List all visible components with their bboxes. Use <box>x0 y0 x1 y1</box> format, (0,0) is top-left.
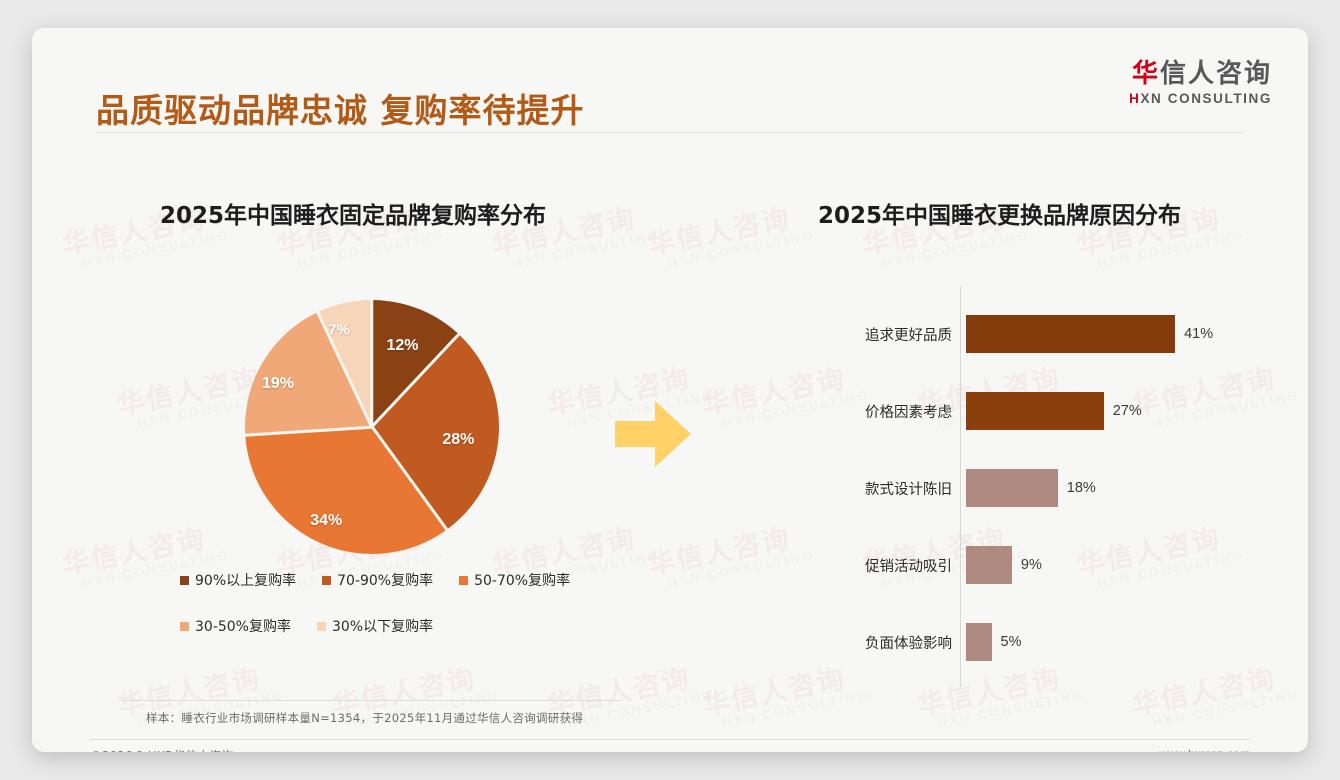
bar-value-label: 18% <box>1067 480 1096 496</box>
legend-label: 30%以下复购率 <box>332 616 433 636</box>
bar-category-label: 价格因素考虑 <box>832 401 966 422</box>
legend-label: 50-70%复购率 <box>474 570 570 590</box>
sample-note: 样本：睡衣行业市场调研样本量N=1354，于2025年11月通过华信人咨询调研获… <box>146 710 583 726</box>
pie-slice-label: 12% <box>386 337 418 355</box>
logo-english-text: HXN CONSULTING <box>1129 91 1272 106</box>
header-divider <box>96 132 1244 133</box>
legend-item[interactable]: 50-70%复购率 <box>459 570 570 590</box>
bar-chart-title: 2025年中国睡衣更换品牌原因分布 <box>818 196 1181 230</box>
bar-value-label: 5% <box>1001 634 1022 650</box>
legend-label: 90%以上复购率 <box>195 570 296 590</box>
bar-row: 负面体验影响5% <box>832 622 1252 662</box>
slide-header: 品质驱动品牌忠诚 复购率待提升 华信人咨询 HXN CONSULTING <box>32 28 1308 154</box>
note-divider <box>122 700 622 701</box>
bar-fill[interactable] <box>966 315 1175 353</box>
pie-chart: 12%28%34%19%7% <box>245 300 499 554</box>
pie-slice-label: 34% <box>310 512 342 530</box>
pie-chart-title: 2025年中国睡衣固定品牌复购率分布 <box>160 196 546 230</box>
legend-item[interactable]: 70-90%复购率 <box>322 570 433 590</box>
bar-category-label: 追求更好品质 <box>832 324 966 345</box>
page-title: 品质驱动品牌忠诚 复购率待提升 <box>96 84 585 132</box>
logo-accent-char: 华 <box>1132 59 1160 89</box>
legend-label: 30-50%复购率 <box>195 616 291 636</box>
bar-row: 促销活动吸引9% <box>832 545 1252 585</box>
pie-legend: 90%以上复购率70-90%复购率50-70%复购率30-50%复购率30%以下… <box>180 570 600 662</box>
bar-category-label: 促销活动吸引 <box>832 555 966 576</box>
legend-swatch <box>317 622 326 631</box>
bar-row: 款式设计陈旧18% <box>832 468 1252 508</box>
pie-slice-divider <box>371 300 374 427</box>
legend-row: 90%以上复购率70-90%复购率50-70%复购率 <box>180 570 600 590</box>
footer-website[interactable]: www.hxrcon.com <box>1159 747 1250 752</box>
bar-fill[interactable] <box>966 469 1058 507</box>
pie-slice-label: 7% <box>328 322 350 339</box>
bar-fill[interactable] <box>966 546 1012 584</box>
logo-en-rest: XN CONSULTING <box>1140 91 1272 106</box>
logo-rest-chars: 信人咨询 <box>1160 59 1272 89</box>
legend-swatch <box>180 576 189 585</box>
bar-category-label: 款式设计陈旧 <box>832 478 966 499</box>
bar-fill[interactable] <box>966 392 1104 430</box>
bar-row: 追求更好品质41% <box>832 314 1252 354</box>
bar-row: 价格因素考虑27% <box>832 391 1252 431</box>
right-arrow-icon <box>615 399 691 469</box>
legend-item[interactable]: 30%以下复购率 <box>317 616 433 636</box>
logo-en-accent: H <box>1129 91 1140 106</box>
legend-swatch <box>459 576 468 585</box>
bar-category-label: 负面体验影响 <box>832 632 966 653</box>
legend-row: 30-50%复购率30%以下复购率 <box>180 616 600 636</box>
slide-canvas: 华信人咨询HXN CONSULTING华信人咨询HXN CONSULTING华信… <box>32 28 1308 752</box>
legend-item[interactable]: 90%以上复购率 <box>180 570 296 590</box>
bar-value-label: 9% <box>1021 557 1042 573</box>
bar-value-label: 41% <box>1184 326 1213 342</box>
company-logo: 华信人咨询 HXN CONSULTING <box>1129 60 1272 106</box>
pie-slice-label: 28% <box>442 431 474 449</box>
footer-copyright: ©2026.1 HXR华信人咨询 <box>90 747 233 752</box>
pie-slice-label: 19% <box>262 375 294 393</box>
legend-label: 70-90%复购率 <box>337 570 433 590</box>
logo-chinese-text: 华信人咨询 <box>1129 60 1272 89</box>
legend-swatch <box>322 576 331 585</box>
legend-swatch <box>180 622 189 631</box>
bar-chart: 追求更好品质41%价格因素考虑27%款式设计陈旧18%促销活动吸引9%负面体验影… <box>832 286 1252 686</box>
footer-divider <box>90 739 1250 740</box>
bar-value-label: 27% <box>1113 403 1142 419</box>
bar-fill[interactable] <box>966 623 992 661</box>
legend-item[interactable]: 30-50%复购率 <box>180 616 291 636</box>
